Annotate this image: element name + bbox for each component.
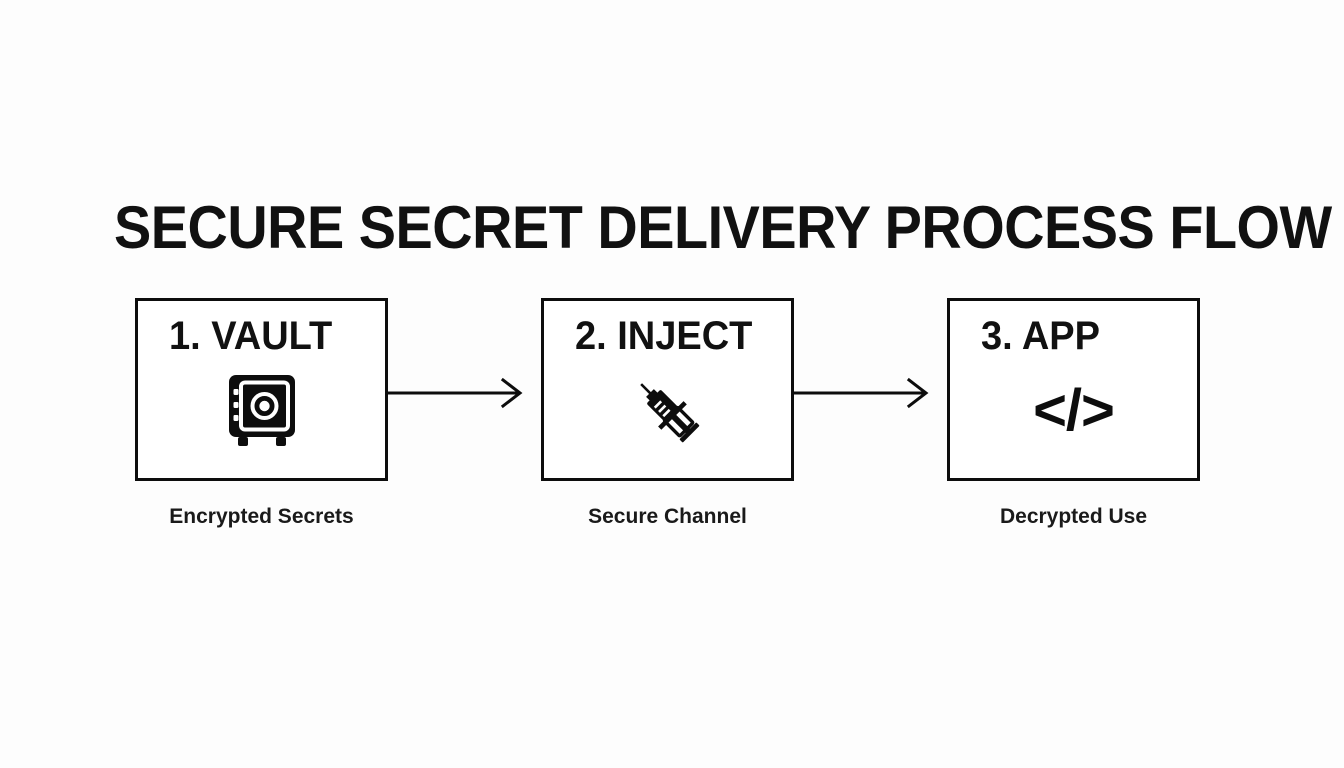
code-tags-glyph: </> (1033, 382, 1114, 440)
step-box-inject[interactable]: 2. INJECT (541, 298, 794, 481)
arrow-vault-to-inject (387, 375, 527, 411)
process-flow-diagram: 1. VAULT (0, 298, 1344, 548)
step-label-inject: 2. INJECT (575, 313, 752, 359)
step-box-app[interactable]: 3. APP </> (947, 298, 1200, 481)
step-caption-app: Decrypted Use (927, 504, 1220, 530)
step-caption-vault: Encrypted Secrets (115, 504, 408, 530)
syringe-icon (544, 365, 791, 457)
flow-step-vault[interactable]: 1. VAULT (135, 298, 388, 481)
vault-safe-icon (138, 365, 385, 457)
flow-step-app[interactable]: 3. APP </> Decrypted Use (947, 298, 1200, 481)
step-label-vault: 1. VAULT (169, 313, 332, 359)
slide-canvas: SECURE SECRET DELIVERY PROCESS FLOW 1. V… (0, 0, 1344, 768)
flow-step-inject[interactable]: 2. INJECT (541, 298, 794, 481)
step-box-vault[interactable]: 1. VAULT (135, 298, 388, 481)
step-label-app: 3. APP (981, 313, 1100, 359)
step-caption-inject: Secure Channel (521, 504, 814, 530)
page-title: SECURE SECRET DELIVERY PROCESS FLOW (114, 193, 1156, 263)
code-tags-icon: </> (950, 365, 1197, 457)
arrow-inject-to-app (793, 375, 933, 411)
